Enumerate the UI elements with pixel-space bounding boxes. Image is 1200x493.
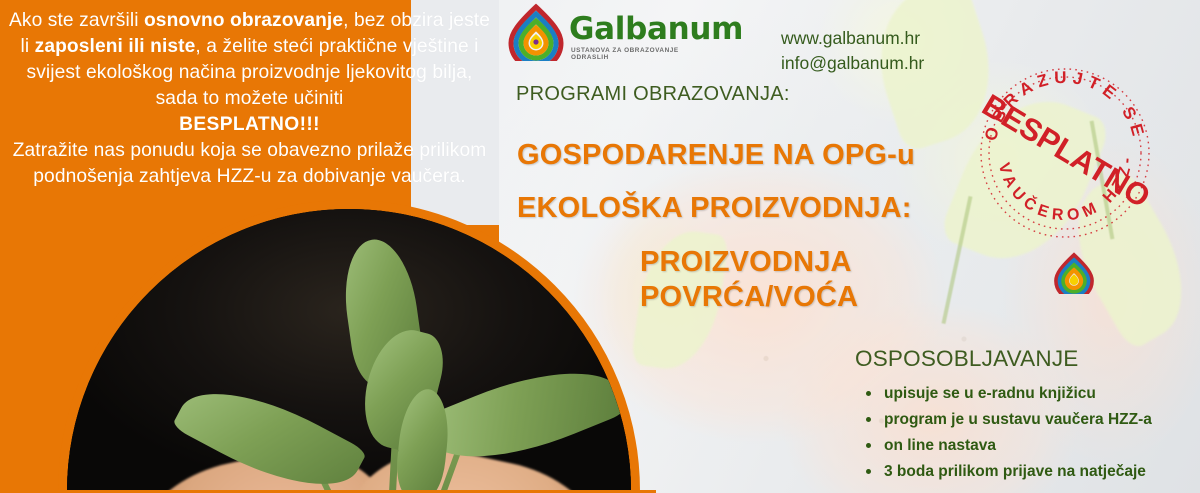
intro-line-6: Zatražite nas ponudu koja se obavezno pr… xyxy=(8,138,491,164)
list-item: 3 boda prilikom prijave na natječaje xyxy=(862,459,1152,485)
program-title-proizvodnja: PROIZVODNJA xyxy=(640,246,852,279)
list-item: on line nastava xyxy=(862,433,1152,459)
list-item-label: upisuje se u e-radnu knjižicu xyxy=(884,385,1096,402)
intro-line-1: Ako ste završili osnovno obrazovanje, be… xyxy=(8,8,491,34)
training-heading: OSPOSOBLJAVANJE xyxy=(855,346,1079,372)
list-item-label: program je u sustavu vaučera HZZ-a xyxy=(884,411,1152,428)
intro-line-7: podnošenja zahtjeva HZZ-u za dobivanje v… xyxy=(8,164,491,190)
intro-text-bold: osnovno obrazovanje xyxy=(144,10,343,31)
intro-text-part: li xyxy=(20,36,34,57)
intro-text-part: , a želite steći praktične vještine i xyxy=(195,36,478,57)
hands-seedling-photo xyxy=(58,200,656,493)
logo-subtitle: USTANOVA ZA OBRAZOVANJE ODRASLIH xyxy=(571,47,695,61)
list-item-label: on line nastava xyxy=(884,437,996,454)
bullet-icon xyxy=(866,443,871,448)
bullet-icon xyxy=(866,417,871,422)
intro-text-block: Ako ste završili osnovno obrazovanje, be… xyxy=(0,8,499,190)
droplet-logo-icon-small xyxy=(1052,252,1096,294)
intro-free-emphasis: BESPLATNO!!! xyxy=(8,112,491,138)
intro-line-2: li zaposleni ili niste, a želite steći p… xyxy=(8,34,491,60)
intro-line-3: svijest ekološkog načina proizvodnje lje… xyxy=(8,60,491,86)
email-link[interactable]: info@galbanum.hr xyxy=(781,51,924,76)
list-item-label: 3 boda prilikom prijave na natječaje xyxy=(884,463,1146,480)
promotional-poster: Ako ste završili osnovno obrazovanje, be… xyxy=(0,0,1200,493)
list-item: upisuje se u e-radnu knjižicu xyxy=(862,381,1152,407)
program-title-ekoloska: EKOLOŠKA PROIZVODNJA: xyxy=(517,192,912,225)
bullet-icon xyxy=(866,391,871,396)
photo-circle-frame xyxy=(58,200,640,493)
program-title-povrca-voca: POVRĆA/VOĆA xyxy=(640,281,858,314)
droplet-logo-icon xyxy=(505,3,567,61)
program-title-opg: GOSPODARENJE NA OPG-u xyxy=(517,139,915,172)
training-list: upisuje se u e-radnu knjižicu program je… xyxy=(862,381,1152,485)
logo-wordmark: Galbanum xyxy=(569,11,743,47)
list-item: program je u sustavu vaučera HZZ-a xyxy=(862,407,1152,433)
besplatno-stamp: OBRAZUJTE SE S VAUČEROM HZZ-a BESPLATNO xyxy=(975,63,1155,243)
contact-info: www.galbanum.hr info@galbanum.hr xyxy=(781,26,924,76)
programs-heading: PROGRAMI OBRAZOVANJA: xyxy=(516,83,790,106)
intro-text-part: Ako ste završili xyxy=(9,10,144,31)
intro-text-bold: zaposleni ili niste xyxy=(35,36,196,57)
website-link[interactable]: www.galbanum.hr xyxy=(781,26,924,51)
stamp-center-text: BESPLATNO xyxy=(976,87,1155,214)
intro-text-part: , bez obzira jeste xyxy=(343,10,490,31)
intro-line-4: sada to možete učiniti xyxy=(8,86,491,112)
galbanum-logo[interactable]: Galbanum USTANOVA ZA OBRAZOVANJE ODRASLI… xyxy=(505,3,695,65)
bullet-icon xyxy=(866,469,871,474)
